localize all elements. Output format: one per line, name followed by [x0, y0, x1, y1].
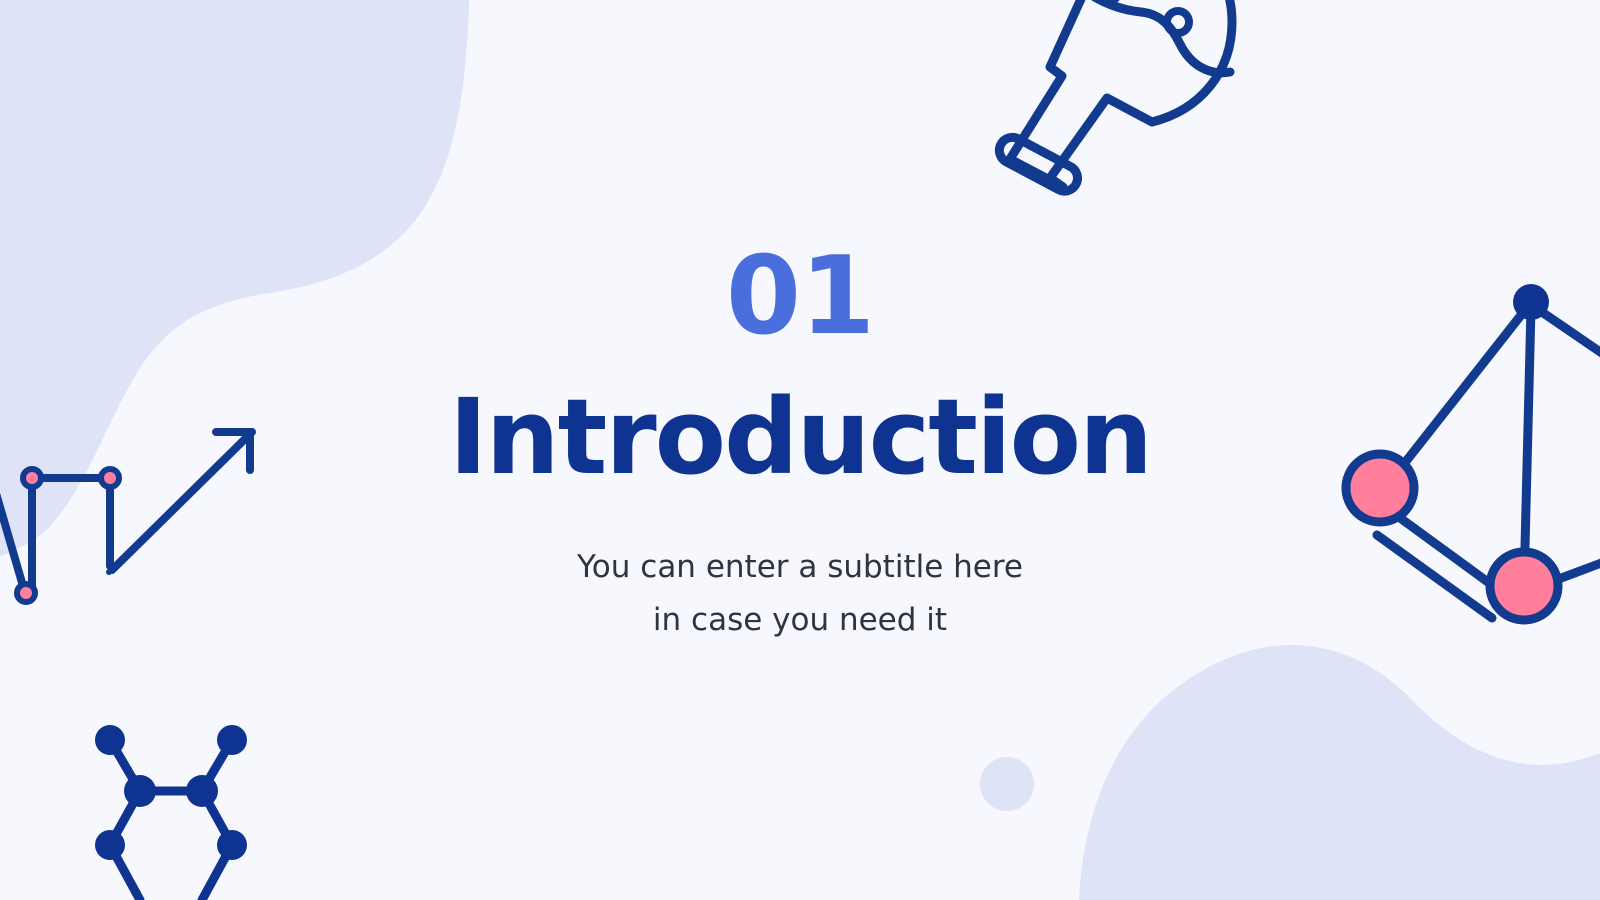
slide-subtitle: You can enter a subtitle here in case yo…	[577, 541, 1023, 648]
subtitle-line-1: You can enter a subtitle here	[577, 541, 1023, 594]
slide-canvas: 01 Introduction You can enter a subtitle…	[0, 0, 1600, 900]
slide-content: 01 Introduction You can enter a subtitle…	[0, 0, 1600, 900]
subtitle-line-2: in case you need it	[577, 594, 1023, 647]
page-title: Introduction	[449, 385, 1151, 489]
section-number: 01	[726, 243, 874, 351]
